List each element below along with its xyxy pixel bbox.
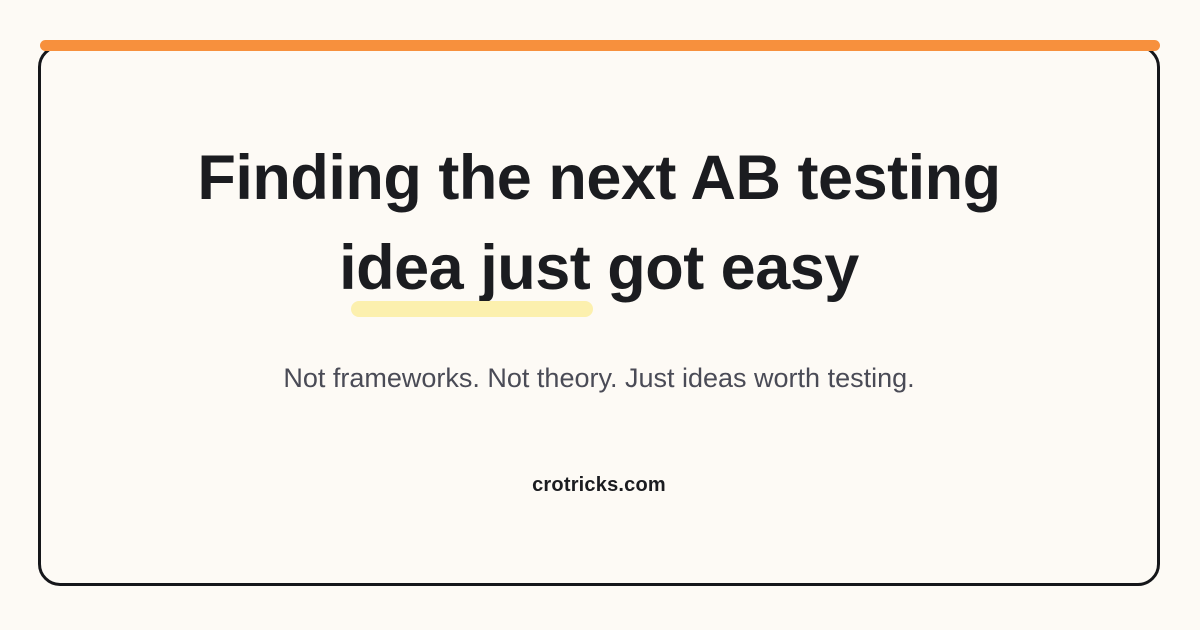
headline-line-2: idea just got easy [38,223,1160,313]
headline: Finding the next AB testing idea just go… [38,45,1160,313]
footer-domain: crotricks.com [38,395,1160,497]
card-content: Finding the next AB testing idea just go… [38,45,1160,586]
og-image-canvas: Finding the next AB testing idea just go… [0,0,1200,630]
orange-accent-bar [40,40,1160,51]
headline-line-1: Finding the next AB testing [38,133,1160,223]
subtitle: Not frameworks. Not theory. Just ideas w… [38,313,1160,395]
yellow-highlight-marker [351,301,593,317]
